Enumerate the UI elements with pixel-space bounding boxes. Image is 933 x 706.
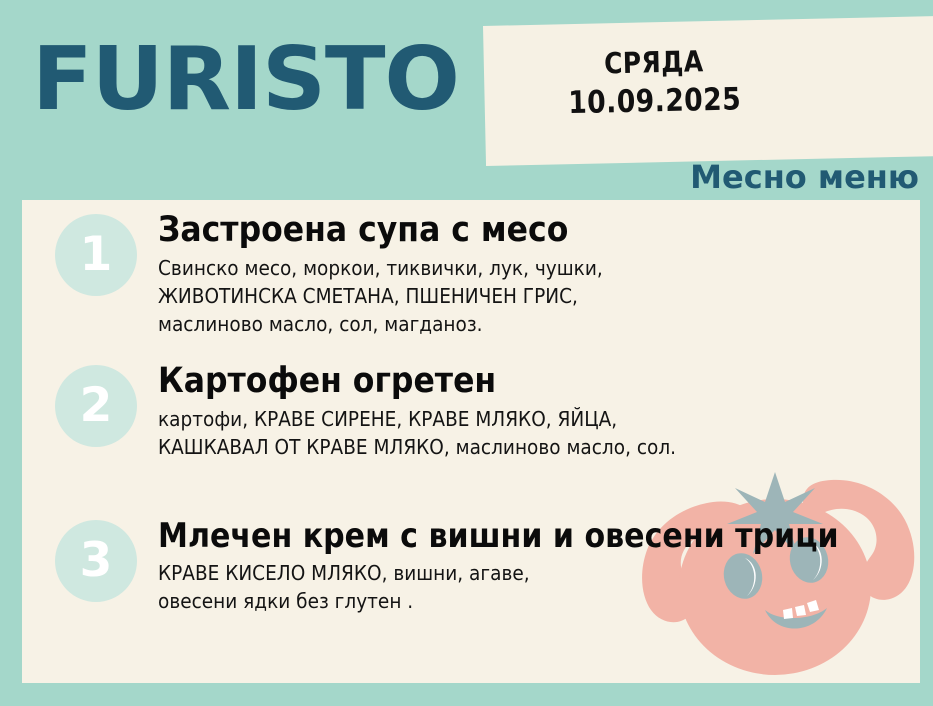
menu-item-text: Млечен крем с вишни и овесени трици КРАВ…	[158, 518, 918, 615]
menu-item-number-badge: 3	[55, 520, 137, 602]
date-label: 10.09.2025	[508, 78, 801, 125]
poster-header: FURISTO СРЯДА 10.09.2025 Месно меню	[0, 0, 933, 200]
menu-kind-label: Месно меню	[690, 158, 919, 196]
menu-item-number-badge: 2	[55, 365, 137, 447]
date-card-inner: СРЯДА 10.09.2025	[483, 41, 825, 126]
menu-item-text: Застроена супа с месо Свинско месо, морк…	[158, 212, 918, 338]
menu-item-description: Свинско месо, моркои, тиквички, лук, чуш…	[158, 254, 861, 338]
menu-item-description: картофи, КРАВЕ СИРЕНЕ, КРАВЕ МЛЯКО, ЯЙЦА…	[158, 405, 861, 461]
menu-item-text: Картофен огретен картофи, КРАВЕ СИРЕНЕ, …	[158, 363, 918, 461]
menu-item-title: Застроена супа с месо	[158, 212, 842, 250]
menu-item-number-badge: 1	[55, 214, 137, 296]
menu-poster: FURISTO СРЯДА 10.09.2025 Месно меню	[0, 0, 933, 706]
menu-item-description: КРАВЕ КИСЕЛО МЛЯКО, вишни, агаве, овесен…	[158, 559, 861, 615]
menu-panel: 1 Застроена супа с месо Свинско месо, мо…	[22, 200, 920, 683]
brand-logo: FURISTO	[32, 36, 459, 123]
date-card: СРЯДА 10.09.2025	[483, 16, 933, 166]
weekday-label: СРЯДА	[507, 41, 800, 84]
menu-item-title: Млечен крем с вишни и овесени трици	[158, 518, 831, 555]
menu-item-title: Картофен огретен	[158, 363, 842, 401]
